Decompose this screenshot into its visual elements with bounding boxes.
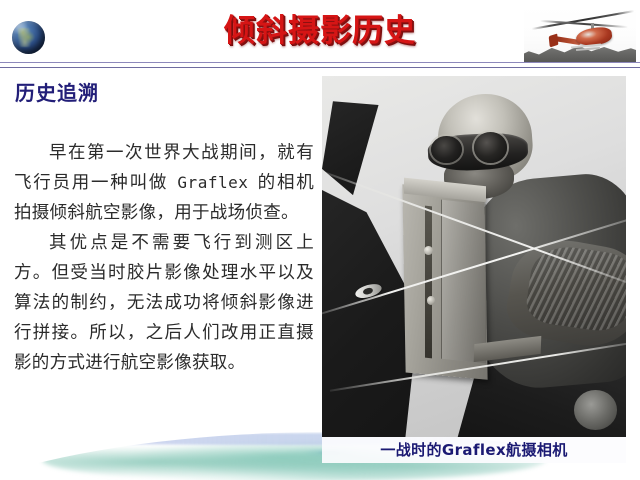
paragraph-2: 其优点是不需要飞行到测区上方。但受当时胶片影像处理水平以及算法的制约，无法成功将… xyxy=(14,228,314,378)
slide-root: 倾斜摄影历史 历史追溯 早在第一次世界大战期间，就有飞行员用一种叫做 Grafl… xyxy=(0,0,640,480)
photo-graflex-camera-door xyxy=(441,200,486,364)
body-text-block: 早在第一次世界大战期间，就有飞行员用一种叫做 Graflex 的相机拍摄倾斜航空… xyxy=(14,138,314,378)
photo-landing-wheel xyxy=(574,390,617,430)
photo-caption: 一战时的Graflex航摄相机 xyxy=(322,439,626,461)
paragraph-1: 早在第一次世界大战期间，就有飞行员用一种叫做 Graflex 的相机拍摄倾斜航空… xyxy=(14,138,314,228)
section-heading: 历史追溯 xyxy=(15,80,99,106)
slide-header: 倾斜摄影历史 xyxy=(0,0,640,64)
photo-graflex-camera-knob-upper xyxy=(424,246,433,255)
photo-goggle-lens-left xyxy=(431,136,461,163)
helicopter-photo xyxy=(524,6,636,62)
graflex-aviator-photo xyxy=(322,76,626,437)
paragraph-1-term: Graflex xyxy=(175,173,250,192)
paragraph-2-text: 其优点是不需要飞行到测区上方。但受当时胶片影像处理水平以及算法的制约，无法成功将… xyxy=(14,233,314,373)
header-divider xyxy=(0,62,640,68)
photo-goggle-lens-right xyxy=(474,132,507,163)
